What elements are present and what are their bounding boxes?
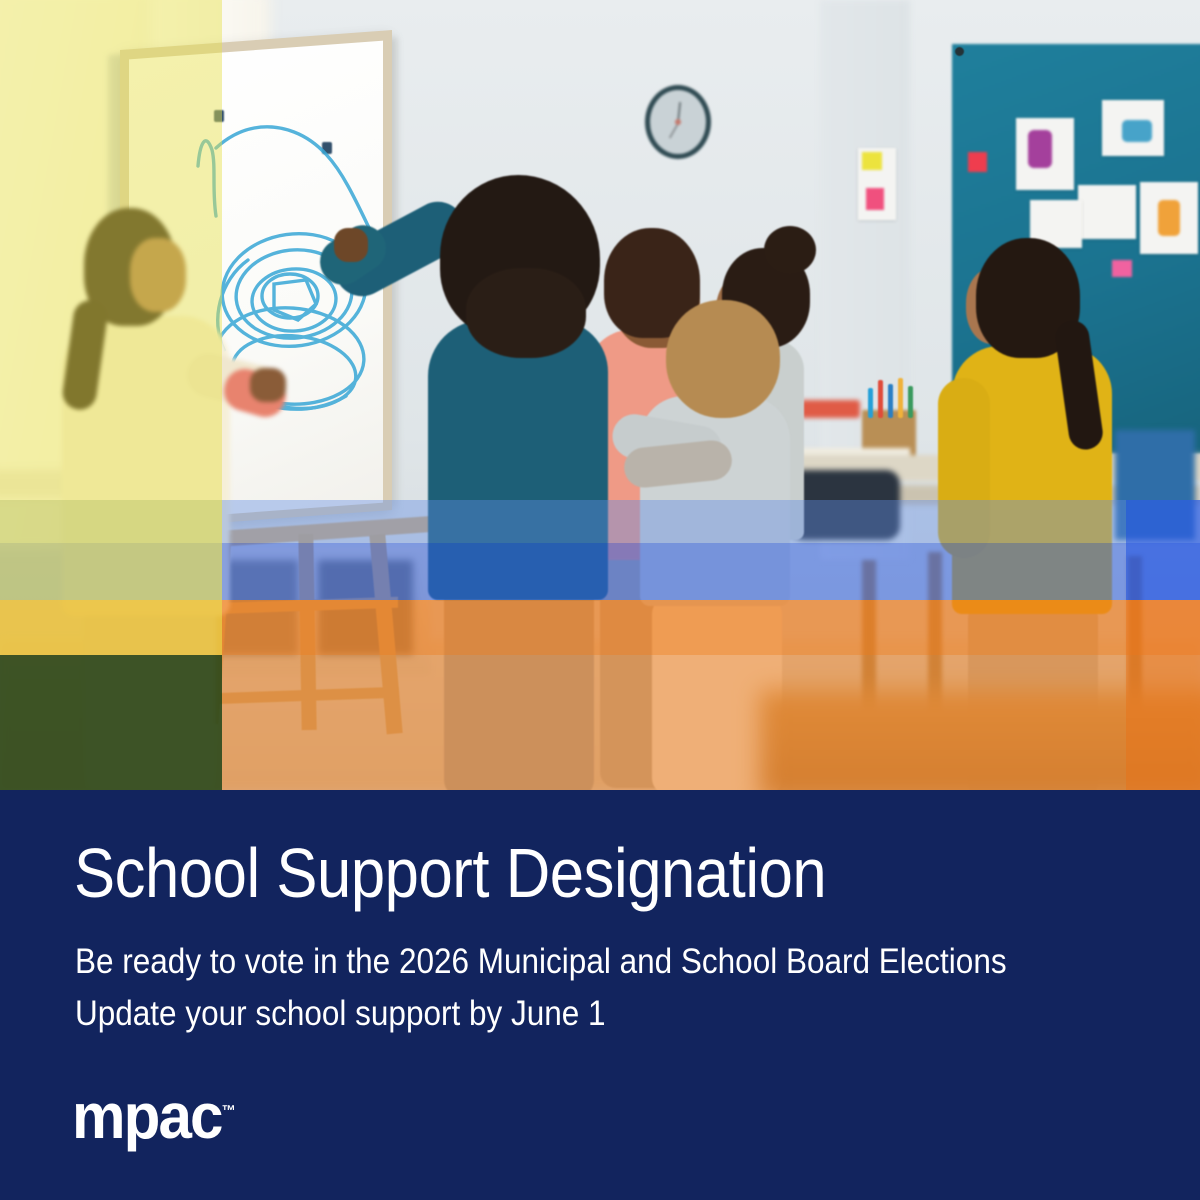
sticky-note	[862, 152, 882, 170]
trademark-symbol: ™	[222, 1103, 236, 1120]
pencil	[878, 380, 883, 418]
pencil	[868, 388, 873, 418]
chair-frame	[862, 560, 876, 710]
subtitle-line-2: Update your school support by June 1	[75, 996, 606, 1031]
chair-frame	[928, 552, 942, 712]
artwork-mark	[1122, 120, 1152, 142]
desk-tray	[800, 400, 860, 418]
mpac-logo-text: mpac	[72, 1080, 222, 1152]
pencil	[898, 378, 903, 418]
childrens-artwork	[1078, 185, 1136, 239]
backpack	[790, 470, 900, 540]
subtitle-line-1: Be ready to vote in the 2026 Municipal a…	[75, 944, 1007, 979]
classroom-chair	[1115, 430, 1195, 540]
page-title: School Support Designation	[74, 838, 826, 908]
clock-center	[675, 119, 681, 125]
text-panel: School Support Designation Be ready to v…	[0, 790, 1200, 1200]
classroom-photo	[0, 0, 1200, 790]
foreground-blur	[760, 690, 1200, 790]
bulletin-board-pin	[955, 47, 964, 56]
pencil	[908, 386, 913, 418]
sticky-note	[866, 188, 884, 210]
artwork-mark	[1158, 200, 1180, 236]
artwork-mark	[1028, 130, 1052, 168]
sticky-note	[968, 152, 987, 172]
promo-graphic: School Support Designation Be ready to v…	[0, 0, 1200, 1200]
pencil	[888, 384, 893, 418]
wall-clock	[645, 85, 711, 159]
clock-minute-hand	[669, 123, 679, 138]
chair-frame	[1128, 556, 1142, 712]
mpac-logo: mpac™	[72, 1084, 236, 1148]
sticky-note	[1112, 260, 1132, 277]
